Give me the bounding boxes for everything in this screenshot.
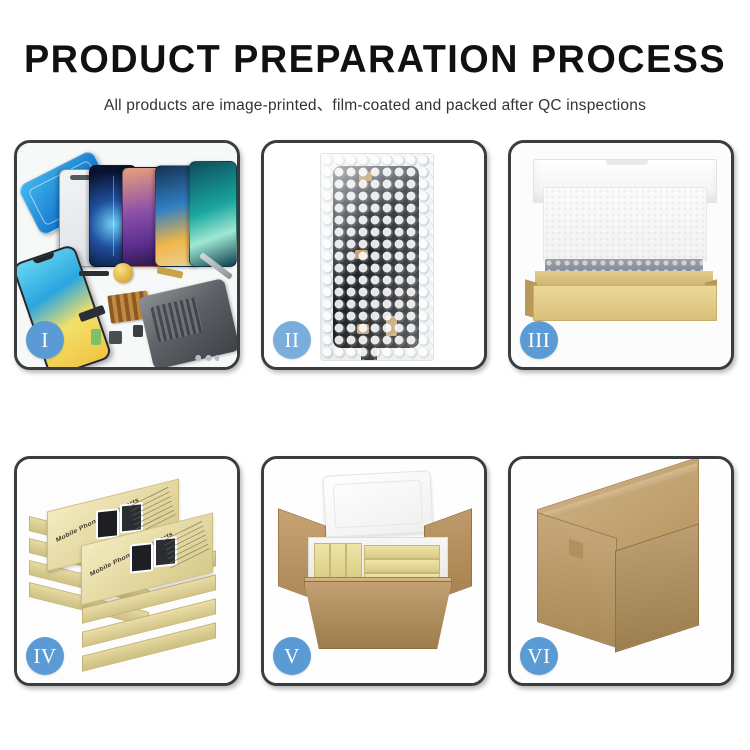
process-step-1: I — [14, 140, 240, 370]
flex-cable-part-a — [79, 271, 109, 276]
small-part-d — [133, 325, 143, 337]
phone-teal — [189, 161, 237, 267]
small-part-b — [109, 331, 122, 344]
flex-cable-part-b — [157, 266, 184, 278]
process-step-6: VI — [508, 456, 734, 686]
process-step-3: III — [508, 140, 734, 370]
infographic-page: PRODUCT PREPARATION PROCESS All products… — [0, 0, 750, 750]
carton-body — [304, 581, 452, 649]
foam-sheet — [543, 187, 707, 261]
page-subtitle: All products are image-printed、film-coat… — [0, 93, 750, 115]
page-title: PRODUCT PREPARATION PROCESS — [11, 40, 739, 79]
box-product-photo-c — [130, 542, 153, 574]
header: PRODUCT PREPARATION PROCESS All products… — [0, 0, 750, 115]
process-step-4: Mobile Phone Spare Parts Mobile Phone Sp… — [14, 456, 240, 686]
step-badge-5: V — [273, 637, 311, 675]
box-product-photo-a — [96, 508, 119, 540]
box-feature-list-2 — [162, 518, 209, 568]
inner-box-4 — [364, 545, 440, 559]
bubble-wrapped-package — [320, 153, 434, 361]
step-badge-6: VI — [520, 637, 558, 675]
screws-part — [193, 353, 219, 363]
step-badge-3: III — [520, 321, 558, 359]
plastic-sheen — [321, 154, 433, 360]
inner-box-5 — [364, 559, 440, 573]
step-badge-4: IV — [26, 637, 64, 675]
box-front-panel — [533, 285, 717, 321]
small-part-a — [91, 329, 101, 345]
step-badge-2: II — [273, 321, 311, 359]
phone-back-housing — [138, 278, 240, 370]
step-badge-1: I — [26, 321, 64, 359]
process-grid: I II — [14, 140, 736, 686]
process-step-5: V — [261, 456, 487, 686]
process-step-2: II — [261, 140, 487, 370]
phone-lineup — [61, 157, 237, 267]
box-stack: Mobile Phone Spare Parts Mobile Phone Sp… — [27, 481, 231, 665]
foam-lid — [322, 470, 433, 538]
speaker-part-icon — [113, 263, 133, 283]
